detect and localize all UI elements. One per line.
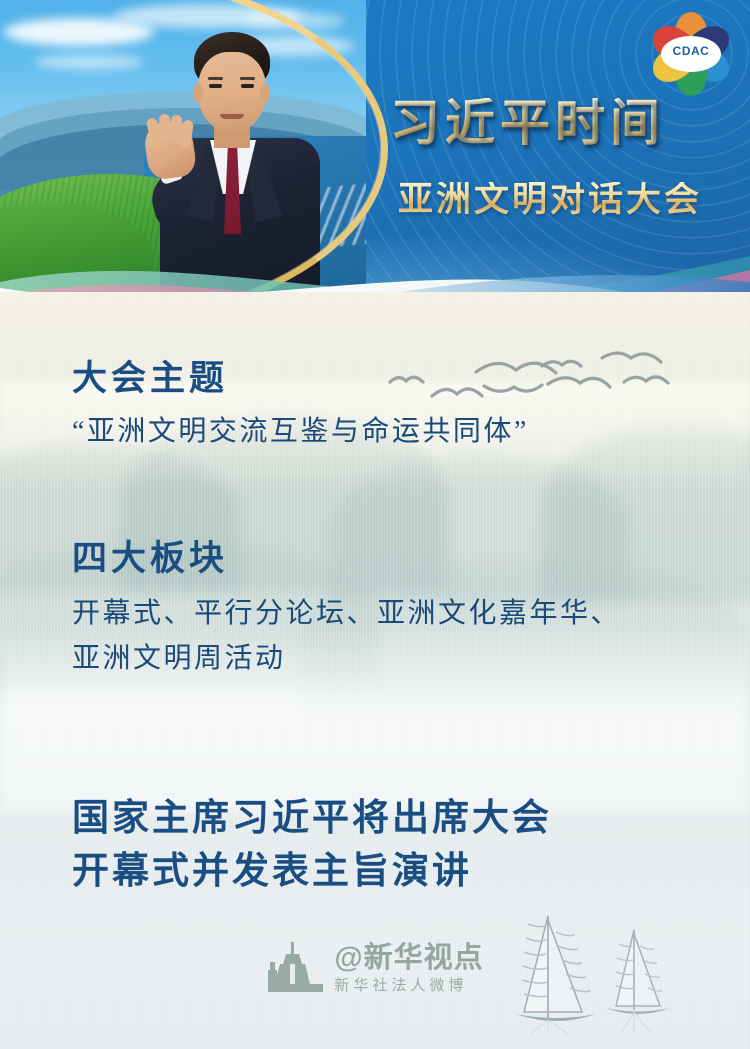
page-subtitle: 亚洲文明对话大会 — [398, 182, 702, 217]
section-heading: 四大板块 — [72, 540, 621, 579]
section-line: “亚洲文明交流互鉴与命运共同体” — [72, 409, 529, 454]
footer-subtitle: 新华社法人微博 — [334, 978, 483, 993]
poster-root: 习近平时间 亚洲文明对话大会 CDAC — [0, 0, 750, 1049]
footer-watermark: @新华视点 新华社法人微博 — [0, 940, 750, 996]
logo-text: CDAC — [645, 44, 737, 58]
section-line: 开幕式、平行分论坛、亚洲文化嘉年华、 — [72, 591, 621, 636]
headline-line-2: 开幕式并发表主旨演讲 — [72, 845, 552, 898]
footer-handle: @新华视点 — [334, 944, 483, 973]
section-segments: 四大板块 开幕式、平行分论坛、亚洲文化嘉年华、 亚洲文明周活动 — [72, 540, 621, 681]
tower-icon — [266, 940, 324, 996]
xinhua-tower-mark — [266, 940, 324, 996]
section-heading: 大会主题 — [72, 360, 529, 399]
footer-text: @新华视点 新华社法人微博 — [334, 944, 483, 993]
headline-block: 国家主席习近平将出席大会 开幕式并发表主旨演讲 — [72, 792, 552, 897]
section-line: 亚洲文明周活动 — [72, 636, 621, 681]
section-theme: 大会主题 “亚洲文明交流互鉴与命运共同体” — [72, 360, 529, 454]
headline-line-1: 国家主席习近平将出席大会 — [72, 792, 552, 845]
poster-body: 大会主题 “亚洲文明交流互鉴与命运共同体” 四大板块 开幕式、平行分论坛、亚洲文… — [0, 292, 750, 1049]
page-title: 习近平时间 — [390, 98, 665, 148]
cdac-logo: CDAC — [645, 8, 737, 100]
